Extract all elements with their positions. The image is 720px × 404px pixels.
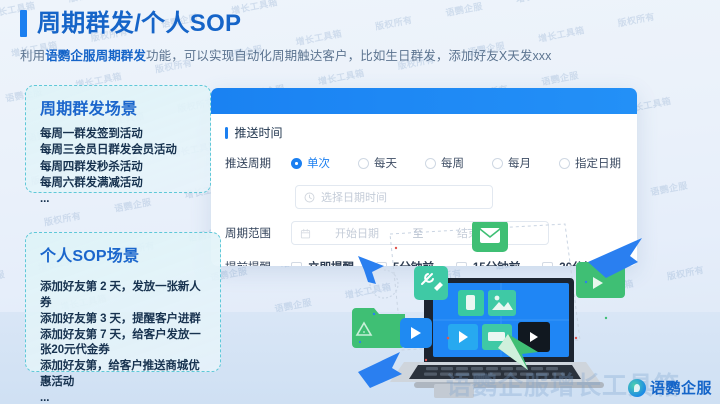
checkbox-box-icon[interactable]	[376, 262, 387, 267]
section-accent-tick	[225, 127, 228, 139]
page-subtitle: 利用语鹦企服周期群发功能，可以实现自动化周期触达客户，比如生日群发，添加好友X天…	[20, 45, 552, 64]
checkbox-label: 5分钟前	[393, 259, 434, 266]
form-row-datetime: 选择日期时间	[225, 185, 637, 209]
scenario-card-sop: 个人SOP场景 添加好友第 2 天，发放一张新人券 添加好友第 3 天，提醒客户…	[25, 232, 221, 372]
radio-label: 每周	[441, 155, 464, 171]
checkbox-box-icon[interactable]	[542, 262, 553, 267]
radio-cycle-daily[interactable]: 每天	[358, 155, 397, 171]
range-separator: 至	[403, 225, 433, 241]
radio-dot-icon[interactable]	[425, 158, 436, 169]
subtitle-prefix: 利用	[20, 49, 45, 63]
watermark-text: 版权所有	[67, 0, 106, 5]
watermark-text: 语鹦企服	[516, 292, 555, 312]
card-title: 个人SOP场景	[40, 242, 208, 266]
panel-body: 推送时间 推送周期 单次 每天	[211, 124, 637, 266]
range-start-placeholder: 开始日期	[311, 225, 403, 241]
watermark-text: 版权所有	[423, 266, 462, 286]
page-title: 周期群发/个人SOP	[37, 12, 241, 36]
radio-cycle-specific-date[interactable]: 指定日期	[559, 155, 621, 171]
page-title-wrap: 周期群发/个人SOP	[20, 10, 241, 37]
range-inner: 开始日期 至 结束日期	[300, 225, 540, 241]
watermark-text: 语鹦企服	[649, 178, 688, 198]
radio-dot-icon[interactable]	[492, 158, 503, 169]
checkbox-remind-immediate[interactable]: 立即提醒	[291, 259, 354, 266]
field-label-remind: 提前提醒	[225, 259, 291, 266]
watermark-text: 语鹦企服	[540, 68, 579, 88]
watermark-text: 版权所有	[43, 209, 82, 229]
datetime-placeholder: 选择日期时间	[321, 189, 387, 205]
list-item: 添加好友第 7 天，给客户发放一张20元代金券	[40, 328, 208, 360]
list-item: 添加好友第，给客户推送商城优惠活动	[40, 359, 208, 391]
parrot-logo-icon	[628, 379, 646, 397]
card-list: 添加好友第 2 天，发放一张新人券 添加好友第 3 天，提醒客户进群 添加好友第…	[40, 280, 208, 404]
checkbox-remind-5min[interactable]: 5分钟前	[376, 259, 434, 266]
checkbox-label: 30分钟前	[559, 259, 606, 266]
radio-label: 每月	[508, 155, 531, 171]
form-row-cycle: 推送周期 单次 每天 每周	[225, 153, 637, 173]
watermark-text: 版权所有	[616, 9, 655, 29]
clock-icon	[304, 192, 315, 203]
field-label-cycle: 推送周期	[225, 155, 291, 171]
range-end-placeholder: 结束日期	[433, 225, 525, 241]
watermark-text: 增长工具箱	[586, 276, 635, 298]
radio-cycle-monthly[interactable]: 每月	[492, 155, 531, 171]
list-item-ellipsis: ...	[40, 391, 208, 404]
radio-dot-icon[interactable]	[358, 158, 369, 169]
radio-group-cycle[interactable]: 单次 每天 每周 每月	[291, 155, 637, 171]
datetime-input[interactable]: 选择日期时间	[295, 185, 493, 209]
brand-logo: 语鹦企服	[628, 377, 712, 398]
list-item-ellipsis: ...	[40, 191, 198, 207]
watermark-text: 增长工具箱	[537, 23, 586, 45]
list-item: 每周六群发满减活动	[40, 175, 198, 191]
title-accent-bar	[20, 10, 27, 37]
radio-dot-icon[interactable]	[559, 158, 570, 169]
checkbox-box-icon[interactable]	[291, 262, 302, 267]
radio-label: 单次	[307, 155, 330, 171]
date-range-input[interactable]: 开始日期 至 结束日期	[291, 221, 549, 245]
subtitle-brand: 语鹦企服周期群发	[45, 49, 146, 63]
slide-canvas: 语鹦企服增长工具箱版权所有语鹦企服增长工具箱版权所有语鹦企服增长工具箱版权所有增…	[0, 0, 720, 404]
radio-label: 指定日期	[575, 155, 621, 171]
watermark-text: 增长工具箱	[317, 66, 366, 88]
list-item: 添加好友第 3 天，提醒客户进群	[40, 312, 208, 328]
list-item: 每周一群发签到活动	[40, 126, 198, 142]
list-item: 每周三会员日群发会员活动	[40, 142, 198, 158]
subtitle-suffix: 功能，可以实现自动化周期触达客户，比如生日群发，添加好友X天发xxx	[146, 49, 552, 63]
watermark-text: 增长工具箱	[515, 0, 564, 5]
radio-dot-icon[interactable]	[291, 158, 302, 169]
calendar-icon	[300, 228, 311, 239]
range-control: 开始日期 至 结束日期	[291, 221, 637, 245]
watermark-text: 增长工具箱	[344, 280, 393, 302]
watermark-text: 语鹦企服	[0, 267, 6, 287]
card-title: 周期群发场景	[40, 95, 198, 119]
form-row-remind: 提前提醒 立即提醒 5分钟前 15分钟前	[225, 257, 637, 266]
checkbox-remind-1hour[interactable]: 1小时前	[629, 259, 638, 266]
watermark-text: 语鹦企服	[444, 0, 483, 19]
field-label-range: 周期范围	[225, 225, 291, 241]
push-time-panel: 推送时间 推送周期 单次 每天	[211, 88, 637, 266]
checkbox-group-remind[interactable]: 立即提醒 5分钟前 15分钟前 30分钟前	[291, 259, 637, 266]
checkbox-box-icon[interactable]	[629, 262, 638, 267]
watermark-text: 版权所有	[666, 263, 705, 283]
checkbox-label: 15分钟前	[473, 259, 520, 266]
form-row-range: 周期范围 开始日期 至 结束日期	[225, 221, 637, 245]
scenario-card-cycle: 周期群发场景 每周一群发签到活动 每周三会员日群发会员活动 每周四群发秒杀活动 …	[25, 85, 211, 193]
card-list: 每周一群发签到活动 每周三会员日群发会员活动 每周四群发秒杀活动 每周六群发满减…	[40, 126, 198, 208]
brand-logo-text: 语鹦企服	[650, 377, 712, 398]
watermark-text: 版权所有	[310, 0, 349, 1]
panel-title-bar	[211, 88, 637, 114]
remind-control: 立即提醒 5分钟前 15分钟前 30分钟前	[291, 259, 637, 266]
checkbox-remind-30min[interactable]: 30分钟前	[542, 259, 606, 266]
checkbox-box-icon[interactable]	[456, 262, 467, 267]
watermark-text: 版权所有	[374, 13, 413, 33]
section-label-text: 推送时间	[235, 124, 283, 141]
list-item: 每周四群发秒杀活动	[40, 159, 198, 175]
list-item: 添加好友第 2 天，发放一张新人券	[40, 280, 208, 312]
checkbox-remind-15min[interactable]: 15分钟前	[456, 259, 520, 266]
radio-label: 每天	[374, 155, 397, 171]
section-header-push-time: 推送时间	[225, 124, 637, 141]
radio-cycle-weekly[interactable]: 每周	[425, 155, 464, 171]
radio-cycle-once[interactable]: 单次	[291, 155, 330, 171]
cycle-radio-control: 单次 每天 每周 每月	[291, 155, 637, 171]
datetime-control: 选择日期时间	[291, 185, 637, 209]
checkbox-label: 立即提醒	[308, 259, 354, 266]
